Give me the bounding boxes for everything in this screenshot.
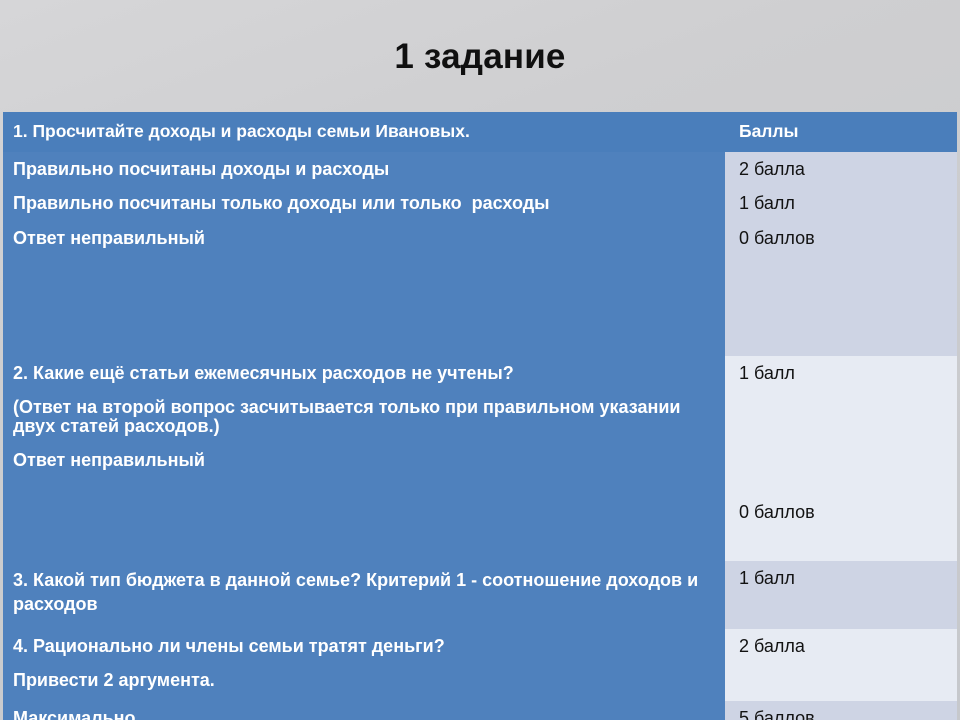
row-3-description: 3. Какой тип бюджета в данной семье? Кри… (3, 561, 725, 629)
row-1-points: 2 балла 1 балл 0 баллов (725, 152, 957, 356)
row-2-description: 2. Какие ещё статьи ежемесячных расходов… (3, 356, 725, 561)
header-cell-description: 1. Просчитайте доходы и расходы семьи Ив… (3, 112, 725, 152)
row-3-points-line-1: 1 балл (739, 569, 947, 587)
row-3-points: 1 балл (725, 561, 957, 629)
row-4-points: 2 балла (725, 629, 957, 701)
row-1-desc-line-3: Ответ неправильный (13, 229, 715, 247)
row-4-desc-line-1: 4. Рационально ли члены семьи тратят ден… (13, 637, 715, 655)
row-total-points-value: 5 баллов (739, 709, 947, 720)
table-row: Правильно посчитаны доходы и расходы Пра… (3, 152, 957, 356)
points-spacer (739, 385, 947, 503)
row-total-label: Максимально (13, 709, 715, 720)
page-title: 1 задание (0, 36, 960, 78)
row-2-points: 1 балл 0 баллов (725, 356, 957, 561)
row-4-description: 4. Рационально ли члены семьи тратят ден… (3, 629, 725, 701)
header-description-text: 1. Просчитайте доходы и расходы семьи Ив… (13, 121, 715, 142)
table-row: 2. Какие ещё статьи ежемесячных расходов… (3, 356, 957, 561)
row-2-desc-line-1: 2. Какие ещё статьи ежемесячных расходов… (13, 364, 715, 382)
table-row: 4. Рационально ли члены семьи тратят ден… (3, 629, 957, 701)
row-4-desc-line-2: Привести 2 аргумента. (13, 671, 715, 689)
row-1-points-line-1: 2 балла (739, 160, 947, 178)
row-3-desc-line-1: 3. Какой тип бюджета в данной семье? Кри… (13, 569, 715, 617)
row-1-desc-line-2: Правильно посчитаны только доходы или то… (13, 194, 715, 212)
row-2-points-line-1: 1 балл (739, 364, 947, 382)
row-4-points-line-1: 2 балла (739, 637, 947, 655)
grading-criteria-table: 1. Просчитайте доходы и расходы семьи Ив… (3, 112, 957, 720)
row-2-desc-line-3: Ответ неправильный (13, 451, 715, 469)
row-1-description: Правильно посчитаны доходы и расходы Пра… (3, 152, 725, 356)
table-row: 3. Какой тип бюджета в данной семье? Кри… (3, 561, 957, 629)
row-1-points-line-2: 1 балл (739, 194, 947, 212)
row-total-points: 5 баллов (725, 701, 957, 720)
row-total-description: Максимально (3, 701, 725, 720)
table-header-row: 1. Просчитайте доходы и расходы семьи Ив… (3, 112, 957, 152)
header-cell-points: Баллы (725, 112, 957, 152)
slide-canvas: 1 задание 1. Просчитайте доходы и расход… (0, 0, 960, 720)
row-2-desc-line-2: (Ответ на второй вопрос засчитывается то… (13, 398, 715, 435)
table-row-total: Максимально 5 баллов (3, 701, 957, 720)
row-1-points-line-3: 0 баллов (739, 229, 947, 247)
header-points-text: Баллы (739, 121, 947, 142)
row-1-desc-line-1: Правильно посчитаны доходы и расходы (13, 160, 715, 178)
row-2-points-line-2: 0 баллов (739, 503, 947, 521)
